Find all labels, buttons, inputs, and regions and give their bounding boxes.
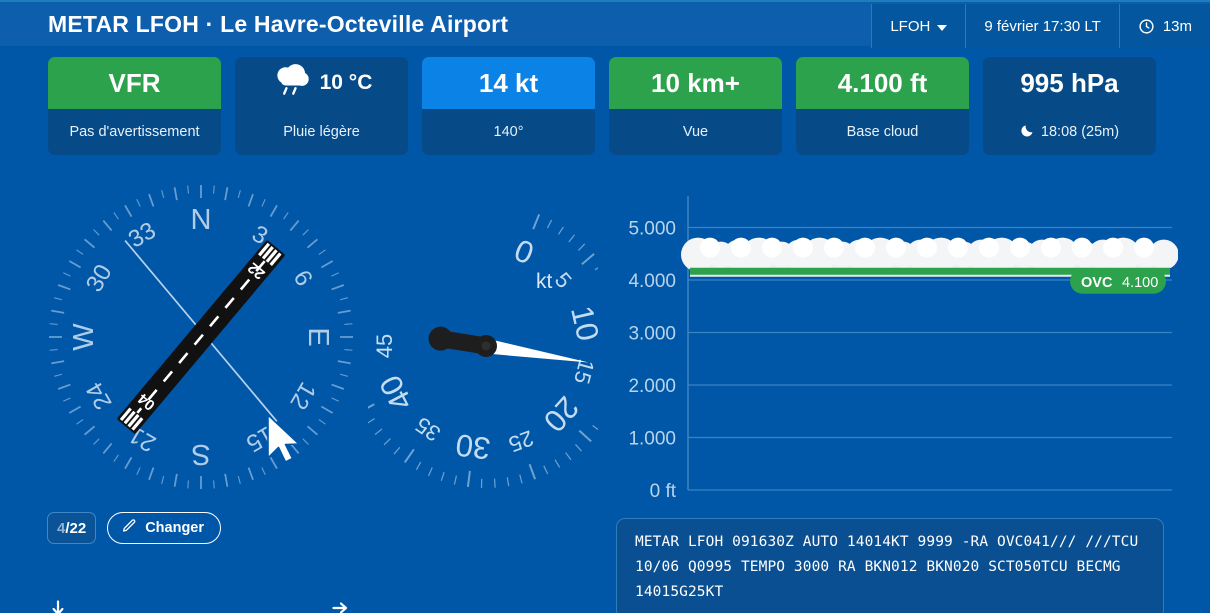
ovc-badge-code: OVC xyxy=(1081,275,1113,291)
card-cloud-base-caption: Base cloud xyxy=(796,109,969,155)
compass-label: E xyxy=(302,327,334,346)
pencil-icon xyxy=(121,518,137,538)
headwind-component: 14 kt xyxy=(324,600,356,613)
card-wind[interactable]: 14 kt 140° xyxy=(422,57,595,155)
compass-label: 24 xyxy=(81,377,118,414)
gauge-needle xyxy=(429,327,589,363)
observation-time-label: 9 février 17:30 LT xyxy=(984,18,1100,35)
gauge-unit-label: kt xyxy=(536,270,553,293)
mouse-pointer-icon xyxy=(268,415,299,462)
card-weather-value: 10 °C xyxy=(320,71,373,95)
arrow-right-icon xyxy=(332,600,348,613)
metar-line: 14015G25KT xyxy=(635,580,1145,605)
compass-label: 6 xyxy=(288,266,318,291)
card-visibility-caption: Vue xyxy=(609,109,782,155)
card-wind-value: 14 kt xyxy=(422,57,595,109)
raw-metar-text[interactable]: METAR LFOH 091630Z AUTO 14014KT 9999 -RA… xyxy=(616,518,1164,613)
chart-y-tick-label: 4.000 xyxy=(628,271,676,292)
observation-age[interactable]: 13m xyxy=(1119,4,1210,48)
compass-label: N xyxy=(191,204,212,236)
card-visibility[interactable]: 10 km+ Vue xyxy=(609,57,782,155)
station-selector-label: LFOH xyxy=(890,18,930,35)
gauge-tick-label: 25 xyxy=(505,425,537,457)
metar-line: METAR LFOH 091630Z AUTO 14014KT 9999 -RA… xyxy=(635,530,1145,555)
metar-line: 10/06 Q0995 TEMPO 3000 RA BKN012 BKN020 … xyxy=(635,555,1145,580)
card-visibility-value: 10 km+ xyxy=(609,57,782,109)
compass-label: 30 xyxy=(81,260,118,297)
compass-svg: N36E1215S2124W3033 22 04 xyxy=(36,172,366,502)
card-weather[interactable]: 10 °C Pluie légère xyxy=(235,57,408,155)
chevron-down-icon xyxy=(937,25,947,31)
card-pressure[interactable]: 995 hPa 18:08 (25m) xyxy=(983,57,1156,155)
gauge-svg: 051015202530354045 kt xyxy=(368,178,598,508)
chart-y-tick-label: 0 ft xyxy=(650,481,677,502)
chart-y-tick-label: 1.000 xyxy=(628,429,676,450)
station-selector[interactable]: LFOH xyxy=(871,4,965,48)
card-cloud-base-value: 4.100 ft xyxy=(796,57,969,109)
change-runway-button[interactable]: Changer xyxy=(107,512,221,544)
compass-label: 33 xyxy=(124,217,161,254)
runway-badge-main: /22 xyxy=(65,520,86,537)
runway-badge[interactable]: 4/22 xyxy=(47,512,96,544)
gauge-tick-label: 20 xyxy=(537,390,586,439)
moon-icon xyxy=(1020,123,1035,142)
gauge-tick-label: 30 xyxy=(454,427,493,466)
card-pressure-value: 995 hPa xyxy=(983,57,1156,109)
cloud-chart-svg: 0 ft1.0002.0003.0004.0005.000 OVC4.100 xyxy=(620,186,1178,506)
card-pressure-foot: 18:08 (25m) xyxy=(983,109,1156,155)
runway-strip: 22 04 xyxy=(117,240,286,435)
arrow-down-icon xyxy=(51,600,65,613)
rain-cloud-icon xyxy=(271,63,311,104)
chart-y-tick-label: 2.000 xyxy=(628,376,676,397)
header-controls: LFOH 9 février 17:30 LT 13m xyxy=(871,4,1210,48)
gauge-tick-label: 10 xyxy=(564,303,598,344)
gauge-tick-label: 45 xyxy=(372,334,397,358)
card-cloud-base[interactable]: 4.100 ft Base cloud xyxy=(796,57,969,155)
metar-dashboard: METAR LFOH · Le Havre-Octeville Airport … xyxy=(0,0,1210,613)
observation-age-label: 13m xyxy=(1163,18,1192,35)
ovc-badge-value: 4.100 xyxy=(1122,275,1158,291)
card-weather-head: 10 °C xyxy=(235,57,408,109)
chart-y-tick-label: 3.000 xyxy=(628,324,676,345)
card-flight-category[interactable]: VFR Pas d'avertissement xyxy=(48,57,221,155)
gauge-tick-label: 35 xyxy=(411,412,445,447)
change-runway-label: Changer xyxy=(145,520,204,536)
ovc-badge: OVC4.100 xyxy=(1070,269,1166,294)
runway-controls: 4/22 Changer xyxy=(47,512,221,544)
status-cards: VFR Pas d'avertissement xyxy=(48,57,1156,155)
card-flight-category-caption: Pas d'avertissement xyxy=(48,109,221,155)
card-weather-caption: Pluie légère xyxy=(235,109,408,155)
compass-label: W xyxy=(68,323,100,351)
runway-badge-dim: 4 xyxy=(57,520,65,537)
wind-speed-gauge[interactable]: 051015202530354045 kt xyxy=(368,178,598,508)
compass-wind-components: 1 kt 14 kt xyxy=(36,600,366,613)
wind-compass[interactable]: N36E1215S2124W3033 22 04 xyxy=(36,172,366,508)
card-wind-caption: 140° xyxy=(422,109,595,155)
compass-label: S xyxy=(191,438,210,470)
chart-y-tick-label: 5.000 xyxy=(628,219,676,240)
cloud-layer-chart[interactable]: 0 ft1.0002.0003.0004.0005.000 OVC4.100 xyxy=(620,186,1178,506)
page-title: METAR LFOH · Le Havre-Octeville Airport xyxy=(48,11,508,38)
app-header: METAR LFOH · Le Havre-Octeville Airport … xyxy=(0,0,1210,46)
observation-time: 9 février 17:30 LT xyxy=(965,4,1118,48)
gauge-tick-label: 0 xyxy=(509,232,538,271)
clock-icon xyxy=(1138,18,1155,35)
gauge-tick-label: 40 xyxy=(373,370,420,417)
gauge-tick-label: 5 xyxy=(550,267,577,293)
crosswind-component: 1 kt xyxy=(46,600,70,613)
card-pressure-caption: 18:08 (25m) xyxy=(1041,124,1119,140)
compass-label: 12 xyxy=(284,377,321,414)
card-flight-category-value: VFR xyxy=(48,57,221,109)
